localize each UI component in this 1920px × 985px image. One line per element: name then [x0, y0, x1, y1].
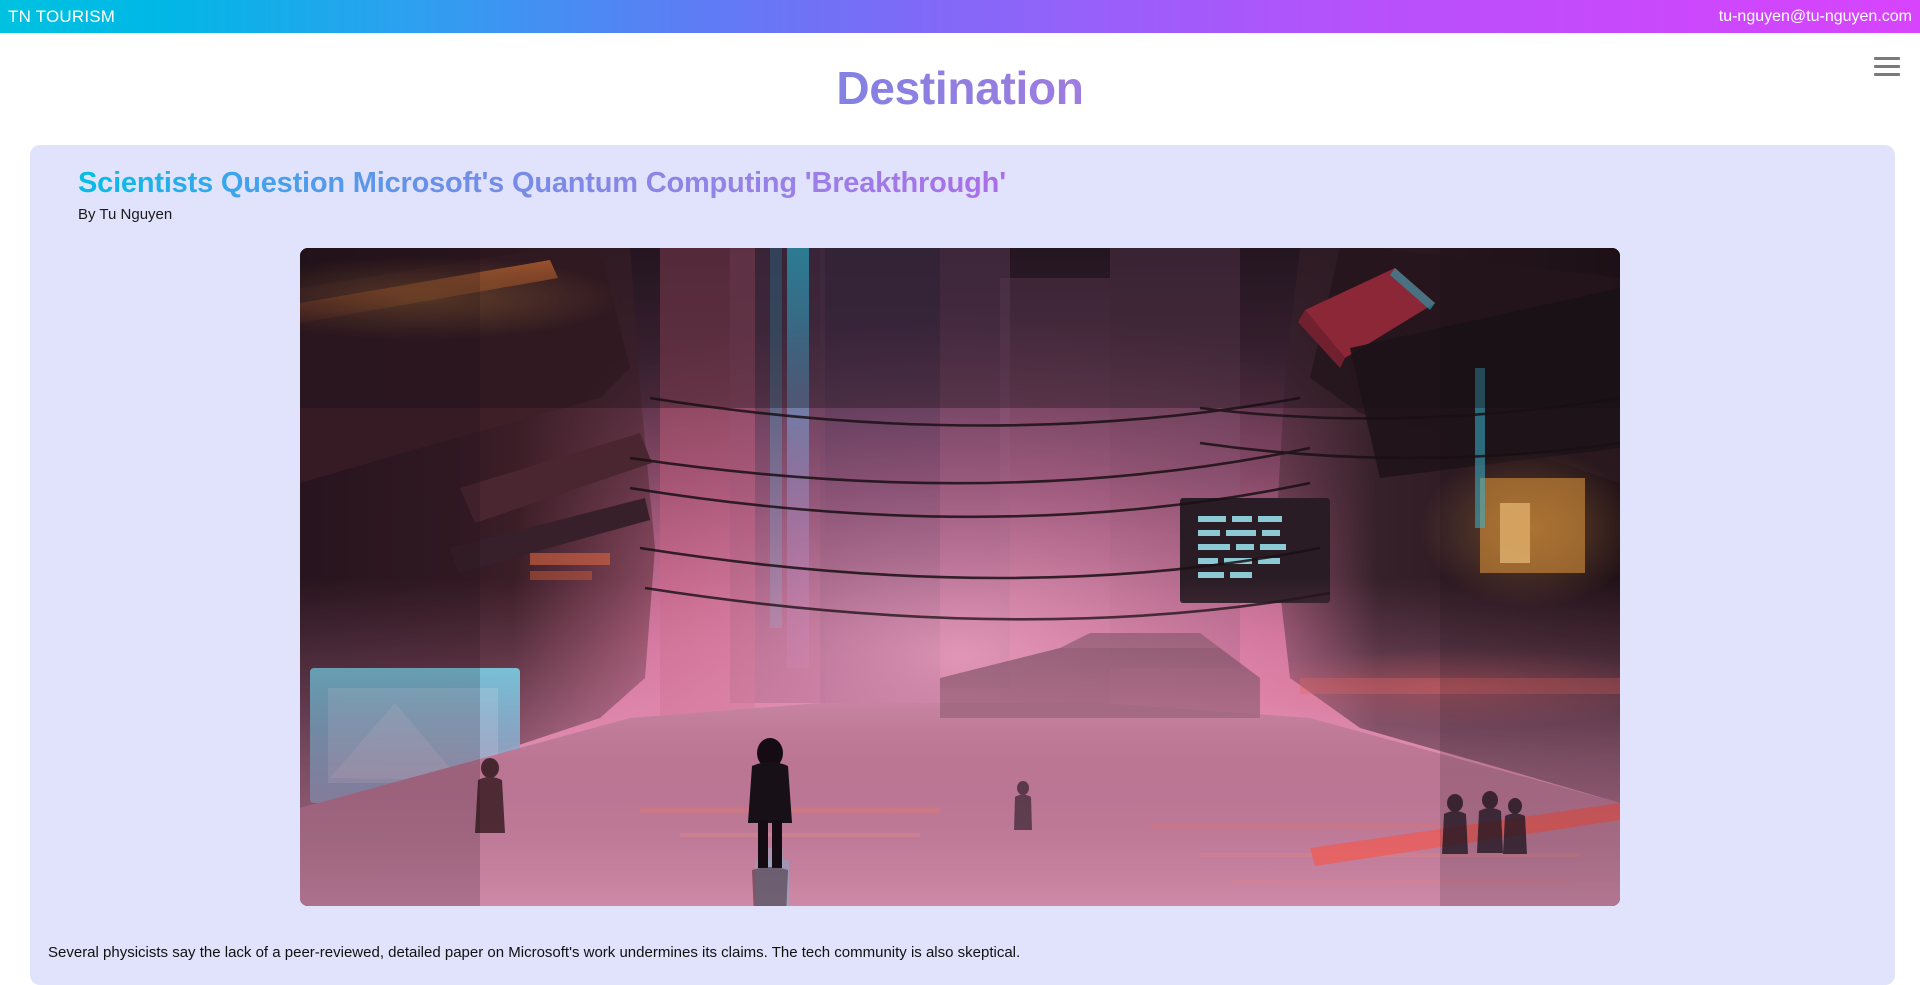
article-byline: By Tu Nguyen: [78, 206, 1895, 224]
site-brand-label[interactable]: TN TOURISM: [8, 8, 115, 25]
menu-line-bottom: [1874, 73, 1900, 76]
article-headline[interactable]: Scientists Question Microsoft's Quantum …: [78, 167, 1895, 200]
top-utility-bar: TN TOURISM tu-nguyen@tu-nguyen.com: [0, 0, 1920, 33]
user-email-label[interactable]: tu-nguyen@tu-nguyen.com: [1719, 9, 1914, 25]
article-caption: Several physicists say the lack of a pee…: [48, 943, 1020, 963]
article-hero-image: [300, 248, 1620, 906]
masthead: Destination: [0, 33, 1920, 145]
menu-line-top: [1874, 57, 1900, 60]
page-title: Destination: [0, 61, 1920, 115]
menu-line-middle: [1874, 65, 1900, 68]
cyberpunk-city-illustration: [300, 248, 1620, 906]
hamburger-menu-icon[interactable]: [1874, 53, 1902, 79]
